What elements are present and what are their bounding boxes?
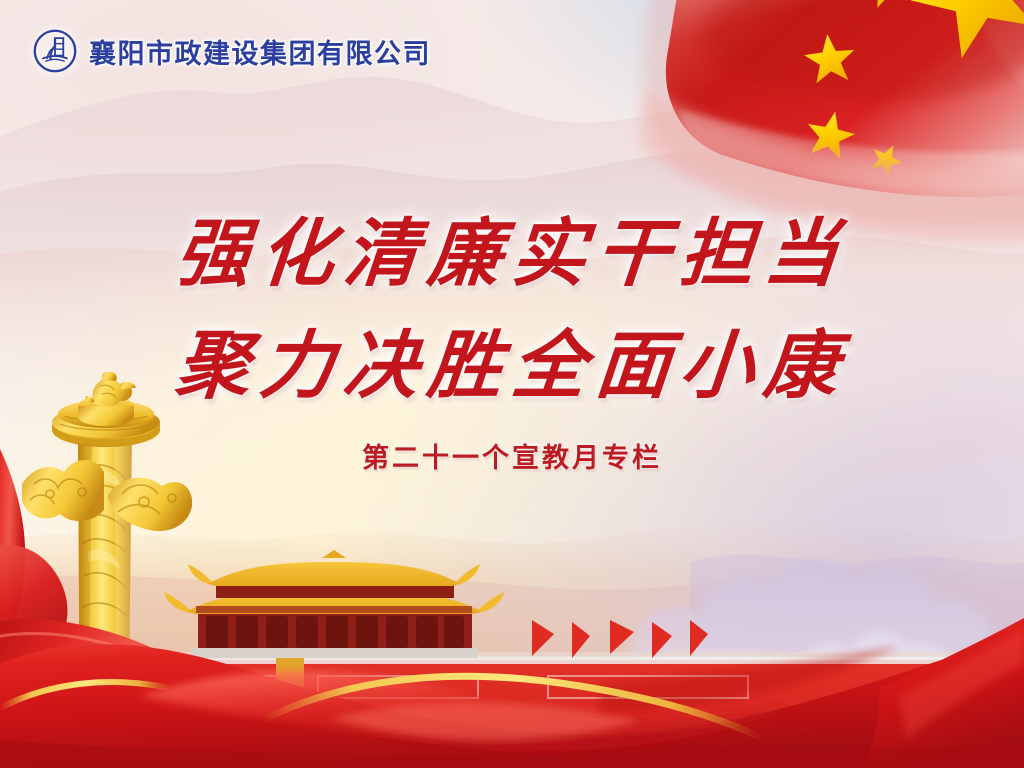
- poster-canvas: 襄阳市政建设集团有限公司 强化清廉实干担当 聚力决胜全面小康 第二十一个宣教月专…: [0, 0, 1024, 768]
- company-name: 襄阳市政建设集团有限公司: [89, 32, 431, 71]
- flag-large-star-icon: [892, 0, 1024, 68]
- tiananmen-gate-icon: [0, 548, 1024, 768]
- flag-small-star-1-icon: [858, 0, 916, 10]
- chinese-national-flag-icon: [624, 0, 1024, 260]
- title-line-1: 强化清廉实干担当: [0, 198, 1024, 310]
- warm-haze-layer: [0, 0, 1024, 768]
- cloud-bank-icon: [594, 488, 1024, 708]
- title-block: 强化清廉实干担当 聚力决胜全面小康 第二十一个宣教月专栏: [0, 198, 1024, 475]
- flag-small-star-3-icon: [802, 107, 858, 162]
- small-flags-left-icon: [24, 622, 122, 658]
- subtitle: 第二十一个宣教月专栏: [0, 436, 1024, 475]
- huabiao-column-icon: [22, 372, 192, 768]
- huabiao-cloud-board-icon: [22, 460, 192, 531]
- brand-header: 襄阳市政建设集团有限公司: [32, 28, 431, 74]
- small-flags-right-icon: [532, 620, 708, 658]
- title-line-2: 聚力决胜全面小康: [0, 310, 1024, 422]
- red-ribbon-icon: [0, 430, 220, 768]
- flag-small-star-2-icon: [802, 31, 857, 84]
- lavender-cloud-wash: [0, 0, 1024, 768]
- red-silk-drape-icon: [0, 568, 1024, 768]
- sky-blue-glow: [0, 0, 1024, 768]
- huabiao-hou-beast-icon: [85, 372, 136, 407]
- lower-mountains-icon: [0, 430, 1024, 690]
- mountains-icon: [0, 40, 1024, 400]
- sky-base-gradient: [0, 0, 1024, 768]
- flag-small-star-4-icon: [866, 139, 907, 179]
- company-emblem-icon: [32, 28, 78, 74]
